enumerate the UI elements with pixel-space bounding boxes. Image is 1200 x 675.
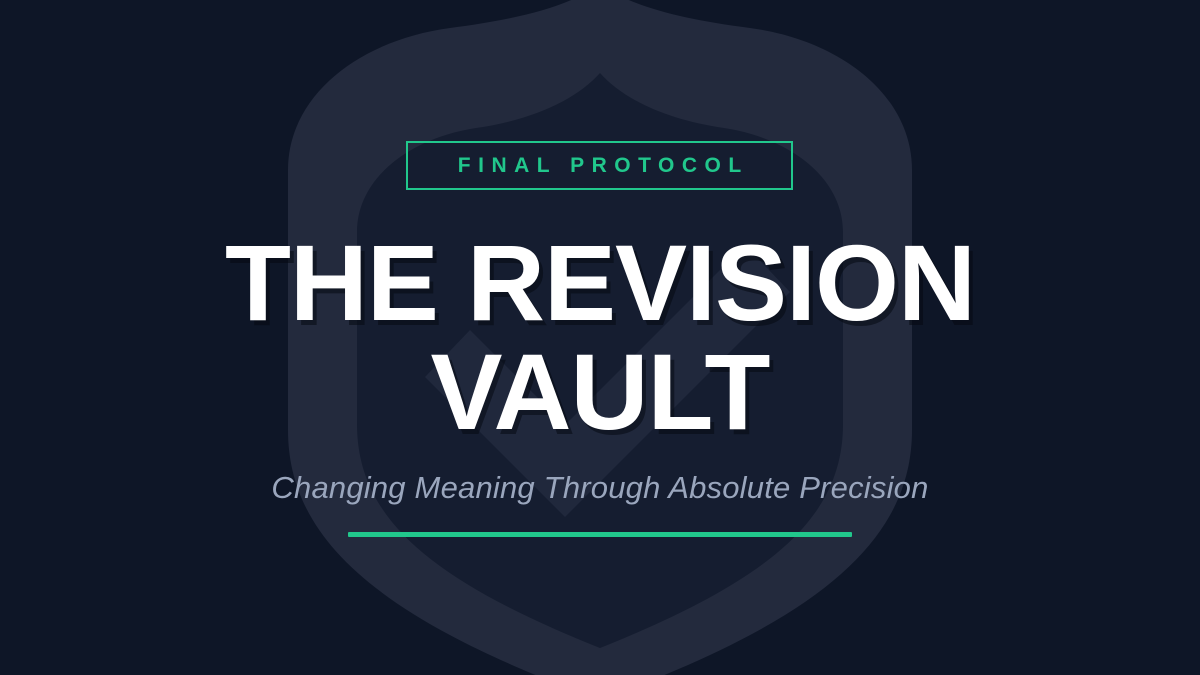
slide-content: FINAL PROTOCOL THE REVISION VAULT Changi… <box>0 0 1200 675</box>
title-line-2: VAULT <box>0 341 1200 444</box>
eyebrow-badge: FINAL PROTOCOL <box>406 141 793 190</box>
title-line-1: THE REVISION <box>0 232 1200 335</box>
accent-rule <box>348 532 852 537</box>
subtitle-text: Changing Meaning Through Absolute Precis… <box>0 470 1200 506</box>
title-slide: FINAL PROTOCOL THE REVISION VAULT Changi… <box>0 0 1200 675</box>
eyebrow-label: FINAL PROTOCOL <box>450 155 748 176</box>
page-title: THE REVISION VAULT <box>0 232 1200 443</box>
